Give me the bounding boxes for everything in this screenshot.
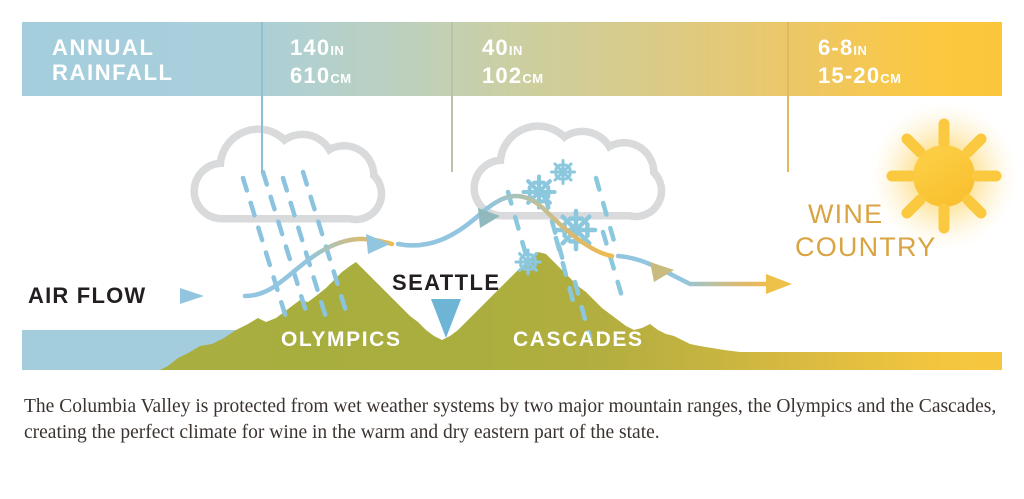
- zone-divider-wine-country: [787, 22, 789, 172]
- climate-infographic: ANNUAL RAINFALL 140IN 610CM 40IN 102CM 6…: [0, 0, 1024, 499]
- rainfall-stat-cm: 102CM: [482, 63, 544, 91]
- wine-country-line-1: WINE: [808, 198, 936, 231]
- rainfall-stat-cm: 610CM: [290, 63, 352, 91]
- rainfall-stat-inches: 140IN: [290, 35, 352, 63]
- rainfall-stat-coast: 140IN 610CM: [290, 35, 352, 91]
- banner-title: ANNUAL RAINFALL: [52, 35, 174, 85]
- rainfall-stat-cascades: 40IN 102CM: [482, 35, 544, 91]
- annual-rainfall-banner: ANNUAL RAINFALL 140IN 610CM 40IN 102CM 6…: [22, 22, 1002, 96]
- rainfall-stat-inches: 6-8IN: [818, 35, 902, 63]
- zone-divider-coast: [261, 22, 263, 172]
- caption-text: The Columbia Valley is protected from we…: [24, 394, 1004, 446]
- wine-country-label: WINE COUNTRY: [795, 198, 936, 264]
- cascades-label: CASCADES: [513, 328, 644, 352]
- rainfall-stat-cm: 15-20CM: [818, 63, 902, 91]
- olympics-label: OLYMPICS: [281, 328, 402, 352]
- rainfall-stat-inches: 40IN: [482, 35, 544, 63]
- zone-divider-cascades: [451, 22, 453, 172]
- rain-cloud: [198, 133, 378, 216]
- air-flow-label: AIR FLOW: [28, 283, 146, 309]
- wine-country-line-2: COUNTRY: [795, 231, 936, 264]
- seattle-label: SEATTLE: [392, 270, 500, 296]
- rainfall-stat-wine-country: 6-8IN 15-20CM: [818, 35, 902, 91]
